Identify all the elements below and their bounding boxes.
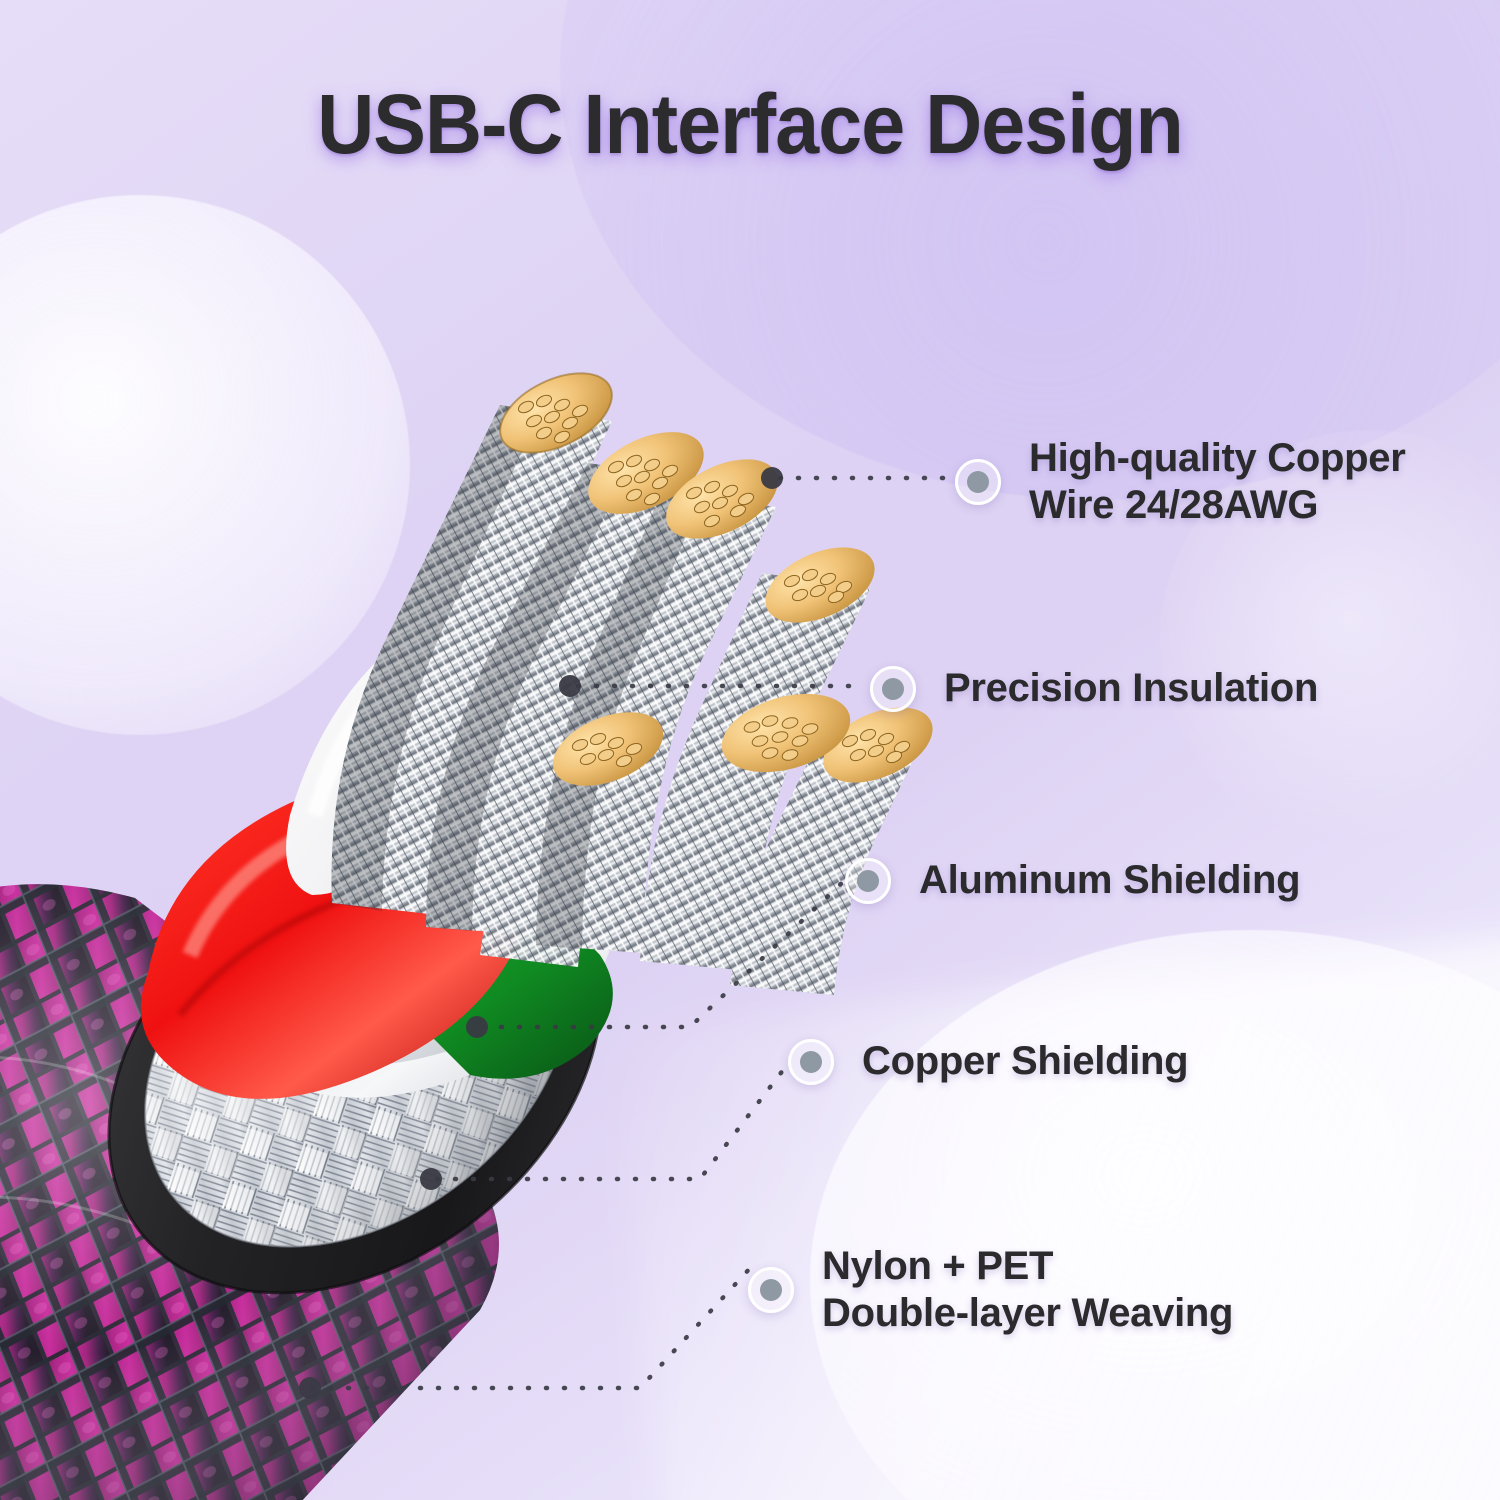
callout-copper-shielding[interactable]: Copper Shielding [788,1038,1188,1085]
callout-marker-icon[interactable] [748,1267,794,1313]
page-title: USB-C Interface Design [45,82,1455,166]
callout-marker-icon[interactable] [955,459,1001,505]
callout-copper-wire[interactable]: High-quality Copper Wire 24/28AWG [955,435,1406,529]
callout-label: Copper Shielding [862,1038,1188,1085]
callout-insulation[interactable]: Precision Insulation [870,665,1318,712]
callout-marker-icon[interactable] [870,666,916,712]
callout-label: Precision Insulation [944,665,1318,712]
callout-marker-icon[interactable] [845,858,891,904]
callout-marker-icon[interactable] [788,1039,834,1085]
callout-label: Nylon + PET Double-layer Weaving [822,1243,1233,1337]
callout-label: Aluminum Shielding [919,857,1300,904]
callout-aluminum-shielding[interactable]: Aluminum Shielding [845,857,1300,904]
infographic-canvas: USB-C Interface Design [0,0,1500,1500]
callout-label: High-quality Copper Wire 24/28AWG [1029,435,1406,529]
callout-nylon-pet[interactable]: Nylon + PET Double-layer Weaving [748,1243,1233,1337]
